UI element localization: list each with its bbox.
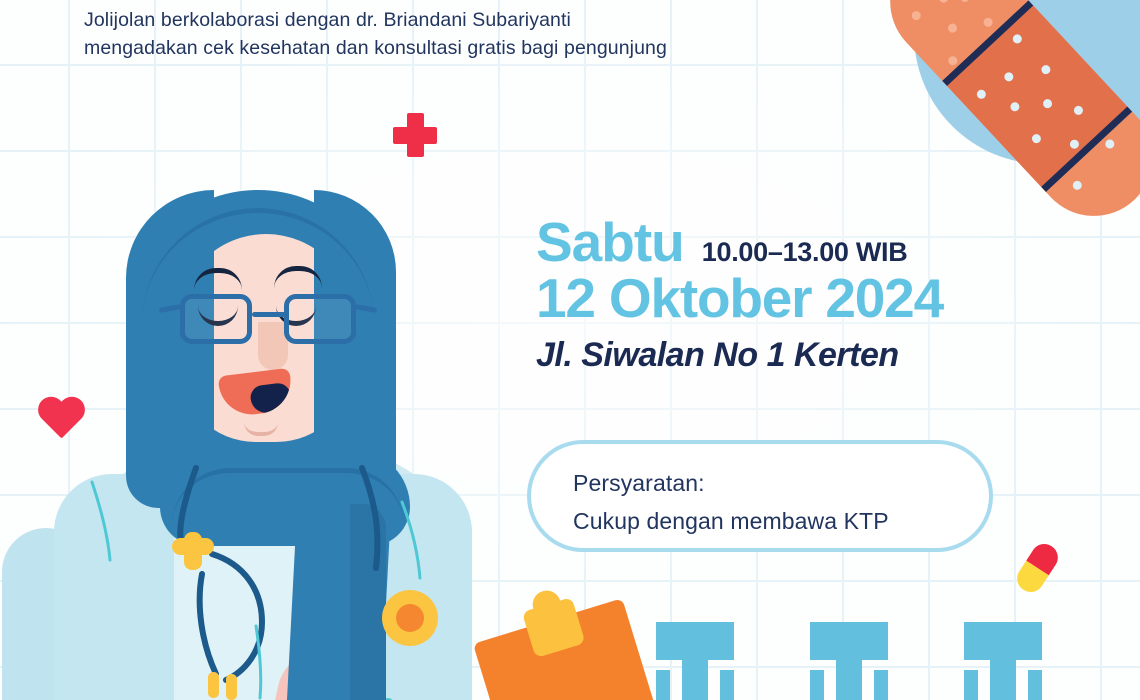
stethoscope-tip: [226, 674, 237, 700]
doctor-illustration: [30, 182, 500, 700]
capsule-pill-icon: [1012, 539, 1063, 597]
requirements-label: Persyaratan:: [573, 464, 989, 502]
event-date: 12 Oktober 2024: [536, 268, 1006, 328]
event-day: Sabtu: [536, 214, 684, 270]
event-address: Jl. Siwalan No 1 Kerten: [536, 332, 1006, 378]
requirements-box: Persyaratan: Cukup dengan membawa KTP: [527, 440, 993, 552]
event-time: 10.00–13.00 WIB: [702, 232, 908, 272]
doctor-badge-icon: [382, 590, 438, 646]
day-and-time-row: Sabtu 10.00–13.00 WIB: [536, 214, 1006, 272]
red-cross-icon: [393, 113, 437, 157]
event-details: Sabtu 10.00–13.00 WIB 12 Oktober 2024 Jl…: [536, 214, 1006, 378]
stethoscope-tip: [208, 672, 219, 698]
hijab-scarf-tail-shade: [350, 504, 386, 700]
clipboard-icon: [473, 598, 663, 700]
header-line-2: mengadakan cek kesehatan dan konsultasi …: [84, 34, 864, 62]
hospital-h-icon: [810, 622, 888, 700]
stethoscope-joint: [172, 532, 214, 572]
hospital-h-icon: [964, 622, 1042, 700]
glasses-icon: [180, 294, 356, 346]
hospital-h-icon: [656, 622, 734, 700]
health-event-poster: Jolijolan berkolaborasi dengan dr. Brian…: [0, 0, 1140, 700]
header-text: Jolijolan berkolaborasi dengan dr. Brian…: [84, 6, 864, 62]
requirements-detail: Cukup dengan membawa KTP: [573, 502, 989, 540]
header-line-1: Jolijolan berkolaborasi dengan dr. Brian…: [84, 6, 864, 34]
